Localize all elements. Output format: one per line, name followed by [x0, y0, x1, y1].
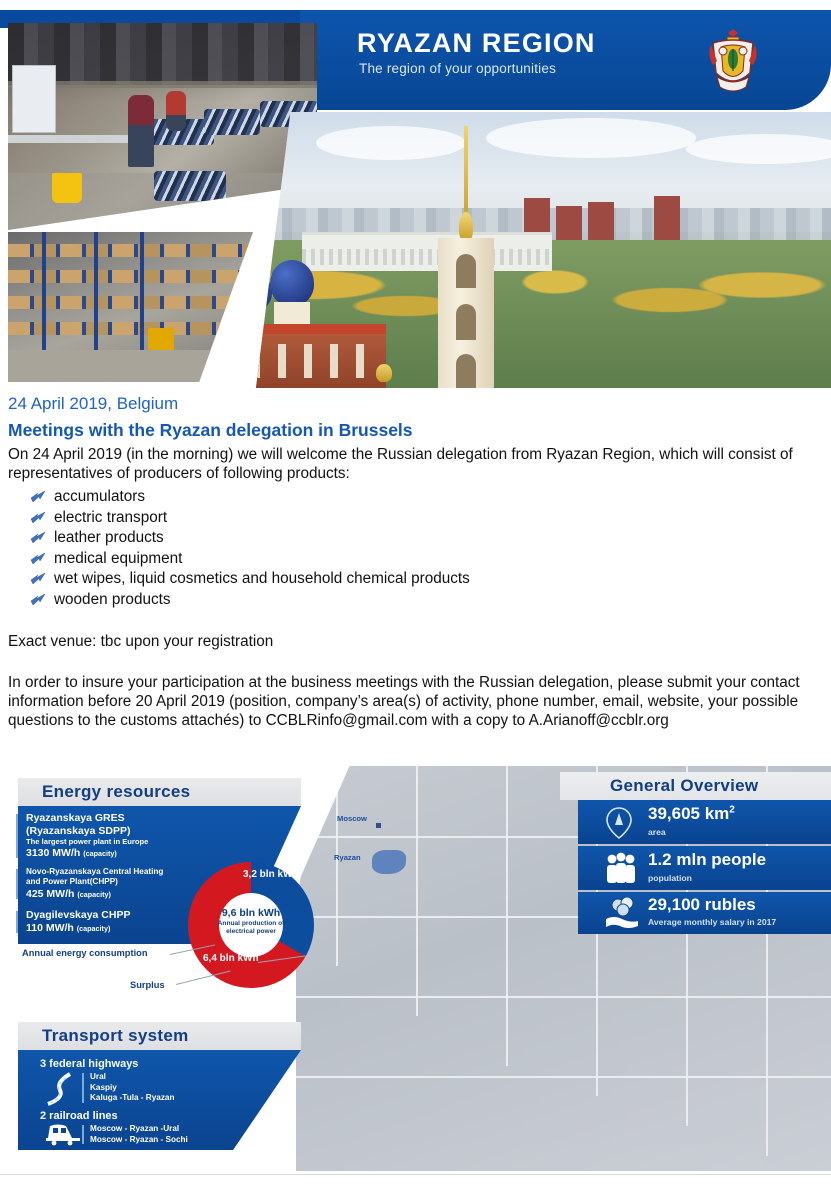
donut-center-caption: Annual production of electrical power — [217, 920, 285, 937]
railroads-heading: 2 railroad lines — [40, 1110, 118, 1122]
donut-consumption-value: 6,4 bln kWh — [203, 953, 259, 964]
russia-map-label-moscow: Moscow — [337, 814, 367, 823]
plant-capacity: 3130 MW/h (capacity) — [26, 847, 216, 860]
donut-center: 9,6 bln kWh Annual production of electri… — [219, 893, 283, 957]
overview-panel-title: General Overview — [610, 776, 758, 796]
russia-map-label-ryazan: Ryazan — [334, 853, 361, 862]
donut-center-value: 9,6 bln kWh — [219, 907, 283, 919]
energy-panel-header: Energy resources — [18, 778, 301, 806]
article-body: 24 April 2019, Belgium Meetings with the… — [0, 388, 831, 730]
highway-3: Kaluga -Tula - Ryazan — [90, 1093, 174, 1102]
list-item-label: wooden products — [54, 591, 171, 608]
plant-note: The largest power plant in Europe — [26, 837, 216, 847]
overview-stat-population: 1.2 mln people population — [578, 846, 831, 890]
energy-panel-title: Energy resources — [42, 782, 190, 802]
overview-stat-salary: 29,100 rubles Average monthly salary in … — [578, 892, 831, 934]
overview-stat-caption: area — [648, 827, 666, 837]
energy-donut-chart: 9,6 bln kWh Annual production of electri… — [188, 862, 314, 988]
overview-stat-area: 39,605 km2 area — [578, 800, 831, 844]
list-item-label: electric transport — [54, 509, 167, 526]
leader-surplus: Surplus — [130, 980, 165, 990]
overview-stat-value: 1.2 mln people — [648, 850, 766, 870]
list-item-label: leather products — [54, 529, 164, 546]
photo-kremlin — [256, 112, 831, 388]
coat-of-arms-icon — [703, 25, 763, 97]
highway-list: Ural Kaspiy Kaluga -Tula - Ryazan — [90, 1072, 174, 1104]
people-icon — [604, 852, 638, 885]
railroad-list: Moscow - Ryazan -Ural Moscow - Ryazan - … — [90, 1124, 188, 1145]
highway-2: Kaspiy — [90, 1083, 117, 1092]
highways-heading: 3 federal highways — [40, 1058, 138, 1070]
power-plant-1: Ryazanskaya GRES (Ryazanskaya SDPP) The … — [26, 812, 216, 860]
blue-arrow-bullet-icon — [30, 552, 47, 566]
list-item-label: wet wipes, liquid cosmetics and househol… — [54, 570, 470, 587]
overview-stat-value: 29,100 rubles — [648, 895, 756, 915]
photo-warehouse — [8, 232, 253, 382]
blue-arrow-bullet-icon — [30, 593, 47, 607]
list-item-label: medical equipment — [54, 550, 182, 567]
blue-arrow-bullet-icon — [30, 511, 47, 525]
product-list: accumulators electric transport leather … — [0, 487, 831, 610]
page-title: RYAZAN REGION — [357, 28, 596, 59]
overview-stat-value: 39,605 km2 — [648, 804, 735, 824]
plant-name: Novo-Ryazanskaya Central Heating — [26, 867, 226, 877]
venue-text: Exact venue: tbc upon your registration — [0, 630, 831, 651]
plant-name: Ryazanskaya GRES — [26, 812, 216, 825]
plant-name-2: and Power Plant(CHPP) — [26, 877, 226, 887]
hero-banner: RYAZAN REGION The region of your opportu… — [0, 0, 831, 388]
list-item: electric transport — [30, 508, 831, 529]
highway-1: Ural — [90, 1072, 106, 1081]
railroad-2: Moscow - Ryazan - Sochi — [90, 1135, 188, 1144]
footer-divider — [0, 1174, 831, 1175]
money-hand-icon — [604, 897, 640, 929]
transport-panel-title: Transport system — [42, 1026, 189, 1046]
blue-arrow-bullet-icon — [30, 531, 47, 545]
blue-arrow-bullet-icon — [30, 572, 47, 586]
leader-consumption: Annual energy consumption — [22, 948, 148, 958]
article-headline: Meetings with the Ryazan delegation in B… — [0, 414, 831, 443]
ryazan-region-marker — [372, 850, 406, 874]
transport-panel-header: Transport system — [18, 1022, 301, 1050]
blue-arrow-bullet-icon — [30, 490, 47, 504]
list-item: medical equipment — [30, 549, 831, 570]
list-item-label: accumulators — [54, 488, 145, 505]
photo-factory — [8, 23, 317, 230]
newsletter-page: RYAZAN REGION The region of your opportu… — [0, 0, 831, 1186]
overview-stat-caption: Average monthly salary in 2017 — [648, 917, 776, 927]
overview-panel-header: General Overview — [560, 772, 831, 800]
plant-name-2: (Ryazanskaya SDPP) — [26, 825, 216, 838]
registration-text: In order to insure your participation at… — [0, 671, 831, 730]
infographic: Moscow Ryazan — [0, 766, 831, 1171]
train-icon — [44, 1122, 84, 1146]
list-item: wooden products — [30, 590, 831, 611]
map-pin-icon — [604, 807, 634, 839]
list-item: wet wipes, liquid cosmetics and househol… — [30, 569, 831, 590]
list-item: accumulators — [30, 487, 831, 508]
article-intro: On 24 April 2019 (in the morning) we wil… — [0, 443, 831, 483]
donut-surplus-value: 3,2 bln kWh — [243, 869, 299, 880]
overview-stat-caption: population — [648, 873, 692, 883]
railroad-1: Moscow - Ryazan -Ural — [90, 1124, 179, 1133]
page-subtitle: The region of your opportunities — [359, 61, 556, 76]
moscow-marker — [376, 823, 381, 828]
article-kicker: 24 April 2019, Belgium — [0, 388, 831, 414]
highway-road-icon — [44, 1072, 80, 1106]
list-item: leather products — [30, 528, 831, 549]
